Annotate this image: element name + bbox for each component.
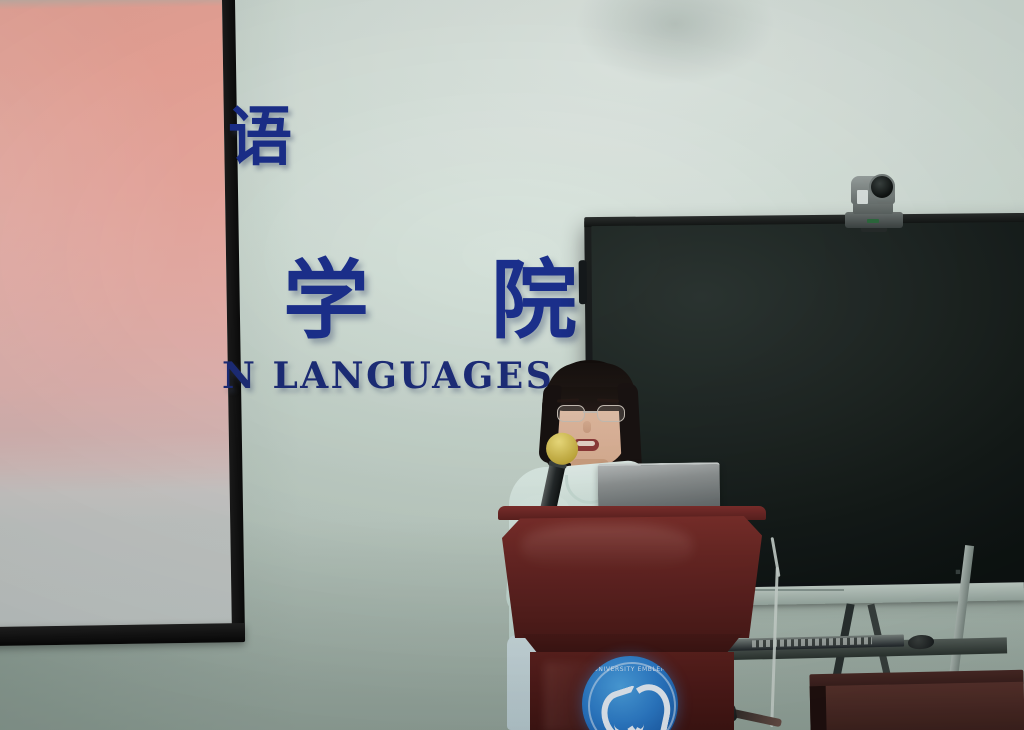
emblem-stroke-c: [614, 710, 644, 730]
camera-lens-icon: [869, 174, 895, 200]
university-emblem: UNIVERSITY EMBLEM: [582, 656, 678, 730]
display-side-button[interactable]: [579, 260, 587, 304]
keyboard-keys[interactable]: [752, 637, 872, 647]
glasses-lens-left: [557, 405, 585, 422]
wall-sign-partial-character: 语: [228, 86, 294, 178]
camera-ir-window: [857, 190, 868, 204]
camera-led-icon: [867, 219, 879, 223]
emblem-symbol-icon: [600, 680, 660, 730]
nose: [583, 421, 591, 433]
wall-sign-chinese: 学 院: [283, 230, 623, 355]
table-left-edge: [810, 686, 827, 730]
glasses-icon: [555, 405, 627, 421]
wall-smudge: [560, 0, 790, 120]
lectern: UNIVERSITY EMBLEM: [498, 506, 766, 730]
projection-screen-surface: e 国才考试 演讲大赛 king Contest 承办： 大学外国语学院: [0, 0, 232, 631]
lectern-gloss-highlight: [522, 524, 692, 570]
ptz-camera: [845, 176, 903, 228]
slide-light-wash: [0, 0, 232, 631]
glasses-bridge: [583, 411, 597, 413]
wooden-table: [809, 670, 1024, 730]
table-body: [810, 682, 1024, 730]
projection-screen: e 国才考试 演讲大赛 king Contest 承办： 大学外国语学院: [0, 0, 245, 650]
photo-scene: e 国才考试 演讲大赛 king Contest 承办： 大学外国语学院 语 学…: [0, 0, 1024, 730]
glasses-lens-right: [597, 405, 625, 422]
